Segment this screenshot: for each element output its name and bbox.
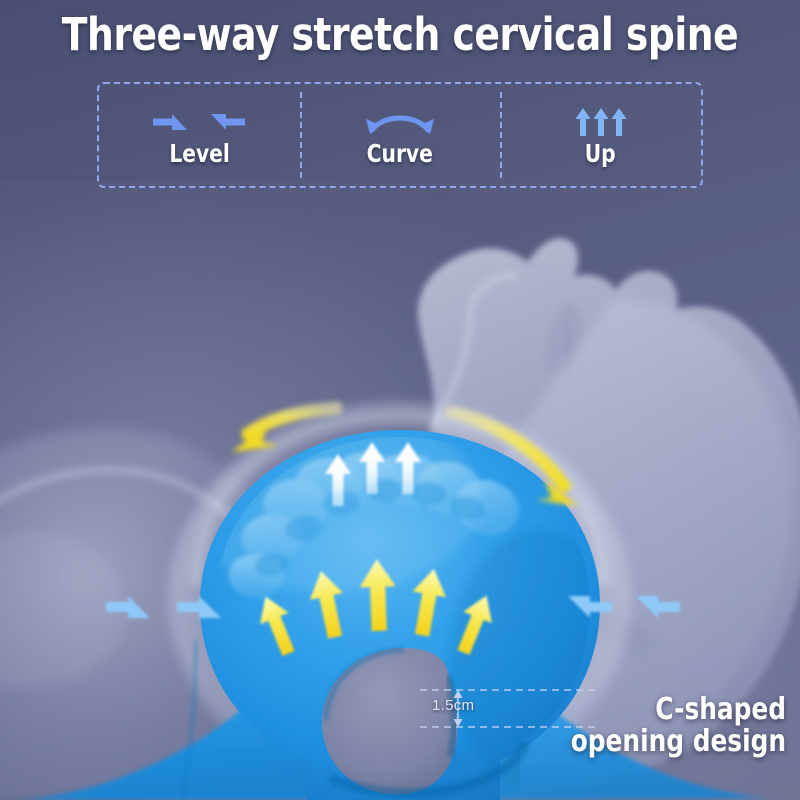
product-infographic: Three-way stretch cervical spine (0, 0, 800, 800)
feature-item-curve[interactable]: Curve (300, 84, 501, 186)
feature-label-level: Level (169, 141, 229, 166)
feature-box: Level Curve (97, 82, 703, 188)
caption-line-2: opening design (571, 726, 786, 758)
feature-item-up[interactable]: Up (500, 84, 701, 186)
blue-left-arrows (106, 596, 221, 618)
blue-right-arrows (568, 596, 680, 618)
feature-label-up: Up (585, 141, 616, 166)
triple-up-arrow-icon (561, 105, 641, 139)
feature-label-curve: Curve (367, 141, 433, 166)
feature-item-level[interactable]: Level (99, 84, 300, 186)
caption-line-1: C-shaped (571, 694, 786, 726)
caption-c-shaped-opening: C-shaped opening design (571, 694, 786, 758)
horizontal-double-arrow-icon (147, 105, 251, 139)
curve-arrow-right (452, 412, 578, 506)
page-title: Three-way stretch cervical spine (28, 8, 772, 61)
yellow-up-arrows (251, 559, 500, 660)
white-up-arrows (325, 442, 421, 506)
arc-double-arrow-icon (352, 105, 448, 139)
measurement-value: 1.5cm (432, 697, 474, 714)
curve-arrow-left (232, 408, 336, 452)
